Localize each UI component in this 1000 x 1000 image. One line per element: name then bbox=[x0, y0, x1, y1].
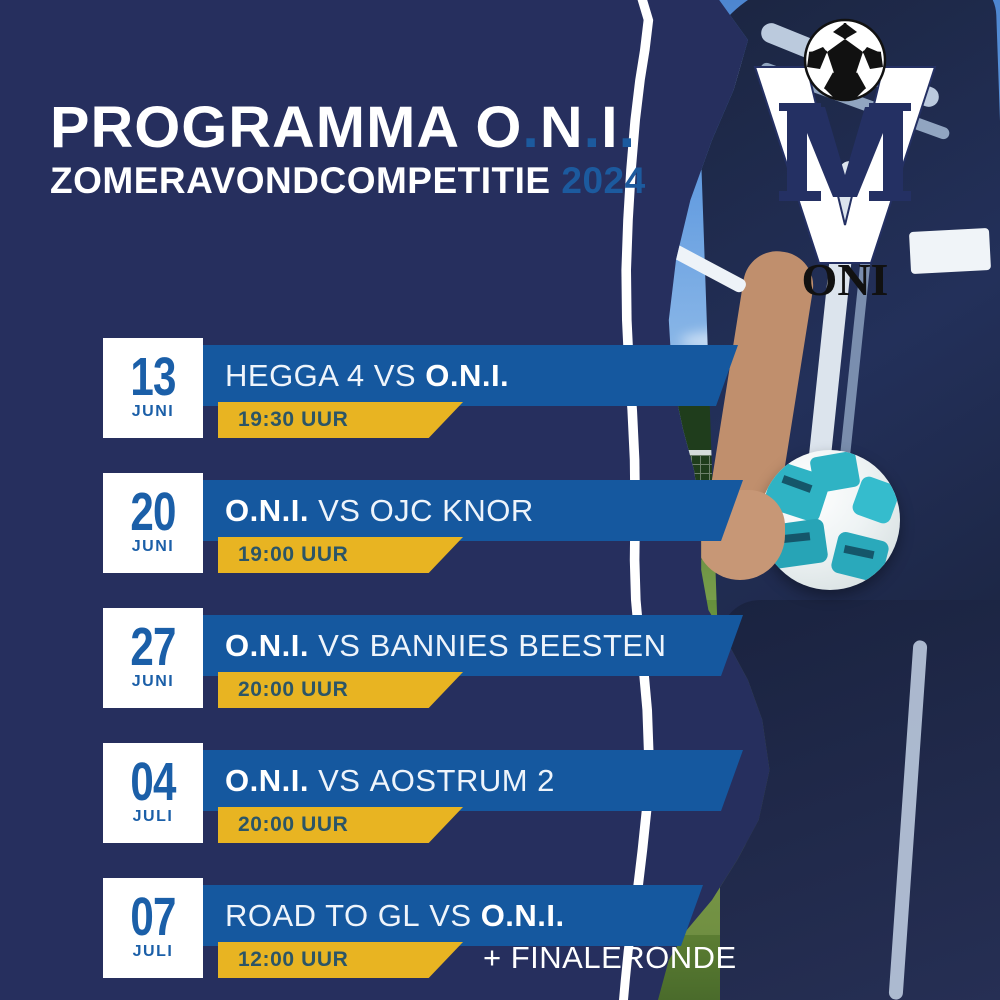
match-time-bar: 19:30 UUR bbox=[218, 402, 463, 438]
match-row: O.N.I. VS BANNIES BEESTEN27JUNI20:00 UUR bbox=[103, 608, 783, 708]
home-team: ROAD TO GL bbox=[225, 898, 420, 933]
match-day: 04 bbox=[130, 760, 175, 804]
match-date-card: 07JULI bbox=[103, 878, 203, 978]
match-time: 20:00 UUR bbox=[238, 678, 348, 702]
vs-label: VS bbox=[318, 763, 360, 798]
poster-canvas: ONI PROGRAMMA O.N.I. ZOMERAVONDCOMPETITI… bbox=[0, 0, 1000, 1000]
subtitle-text: ZOMERAVONDCOMPETITIE bbox=[50, 160, 551, 201]
away-team: O.N.I. bbox=[481, 898, 565, 933]
match-day: 13 bbox=[130, 355, 175, 399]
match-schedule: HEGGA 4 VS O.N.I.13JUNI19:30 UURO.N.I. V… bbox=[103, 338, 783, 978]
page-subtitle: ZOMERAVONDCOMPETITIE 2024 bbox=[50, 162, 646, 199]
page-title: PROGRAMMA O.N.I. bbox=[50, 100, 658, 156]
away-team: O.N.I. bbox=[425, 358, 509, 393]
away-team: OJC KNOR bbox=[370, 493, 534, 528]
match-time: 20:00 UUR bbox=[238, 813, 348, 837]
vs-label: VS bbox=[429, 898, 471, 933]
header: PROGRAMMA O.N.I. ZOMERAVONDCOMPETITIE 20… bbox=[50, 100, 646, 199]
away-team: BANNIES BEESTEN bbox=[370, 628, 667, 663]
match-date-card: 20JUNI bbox=[103, 473, 203, 573]
match-time: 19:00 UUR bbox=[238, 543, 348, 567]
home-team: HEGGA 4 bbox=[225, 358, 365, 393]
match-day: 20 bbox=[130, 490, 175, 534]
match-row: O.N.I. VS AOSTRUM 204JULI20:00 UUR bbox=[103, 743, 783, 843]
match-date-card: 27JUNI bbox=[103, 608, 203, 708]
soccer-ball-icon bbox=[805, 20, 885, 100]
match-title-bar: O.N.I. VS AOSTRUM 2 bbox=[203, 750, 743, 811]
home-team: O.N.I. bbox=[225, 763, 309, 798]
away-team: AOSTRUM 2 bbox=[370, 763, 555, 798]
match-time: 12:00 UUR bbox=[238, 948, 348, 972]
match-date-card: 04JULI bbox=[103, 743, 203, 843]
match-title-bar: O.N.I. VS OJC KNOR bbox=[203, 480, 743, 541]
vs-label: VS bbox=[318, 628, 360, 663]
match-day: 27 bbox=[130, 625, 175, 669]
match-row: ROAD TO GL VS O.N.I.07JULI12:00 UUR+ FIN… bbox=[103, 878, 783, 978]
match-title-bar: HEGGA 4 VS O.N.I. bbox=[203, 345, 738, 406]
vs-label: VS bbox=[374, 358, 416, 393]
match-day: 07 bbox=[130, 895, 175, 939]
match-title: O.N.I. VS BANNIES BEESTEN bbox=[225, 628, 666, 664]
logo-letter-m bbox=[779, 103, 911, 201]
match-title-bar: O.N.I. VS BANNIES BEESTEN bbox=[203, 615, 743, 676]
match-time-bar: 19:00 UUR bbox=[218, 537, 463, 573]
subtitle-year: 2024 bbox=[561, 160, 645, 201]
match-time: 19:30 UUR bbox=[238, 408, 348, 432]
match-title: HEGGA 4 VS O.N.I. bbox=[225, 358, 509, 394]
match-time-bar: 20:00 UUR bbox=[218, 807, 463, 843]
match-title-bar: ROAD TO GL VS O.N.I. bbox=[203, 885, 703, 946]
home-team: O.N.I. bbox=[225, 493, 309, 528]
match-time-bar: 12:00 UUR bbox=[218, 942, 463, 978]
vs-label: VS bbox=[318, 493, 360, 528]
home-team: O.N.I. bbox=[225, 628, 309, 663]
match-time-bar: 20:00 UUR bbox=[218, 672, 463, 708]
match-title: ROAD TO GL VS O.N.I. bbox=[225, 898, 565, 934]
match-title: O.N.I. VS OJC KNOR bbox=[225, 493, 534, 529]
match-extra-note: + FINALERONDE bbox=[483, 940, 737, 976]
match-title: O.N.I. VS AOSTRUM 2 bbox=[225, 763, 555, 799]
match-date-card: 13JUNI bbox=[103, 338, 203, 438]
match-row: O.N.I. VS OJC KNOR20JUNI19:00 UUR bbox=[103, 473, 783, 573]
match-row: HEGGA 4 VS O.N.I.13JUNI19:30 UUR bbox=[103, 338, 783, 438]
logo-club-name: ONI bbox=[802, 254, 889, 305]
club-logo: ONI bbox=[745, 15, 945, 305]
